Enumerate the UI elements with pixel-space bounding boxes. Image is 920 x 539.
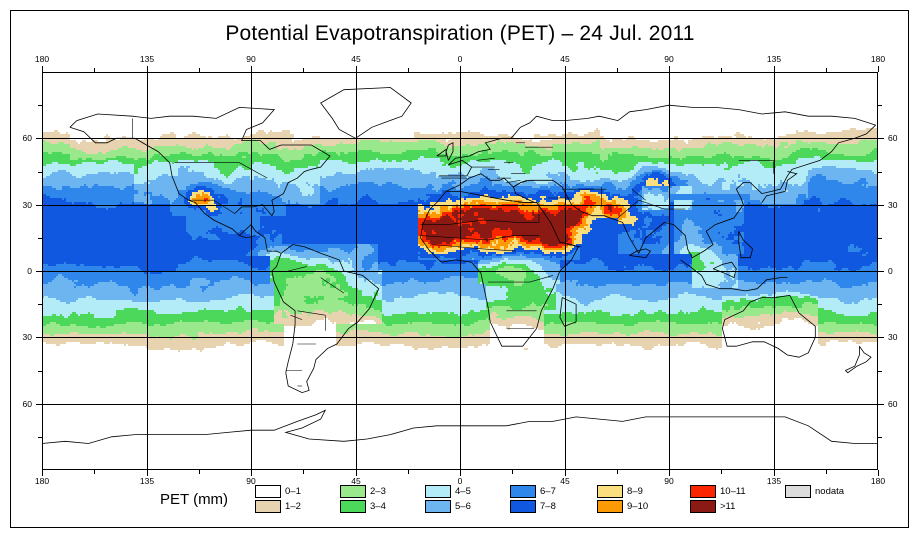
gridline-latitude — [42, 271, 878, 272]
legend-label: 0–1 — [285, 486, 301, 497]
axis-tick-minor-longitude — [826, 470, 827, 474]
axis-tick-minor-longitude — [617, 470, 618, 474]
legend-item: 2–3 — [340, 484, 386, 499]
legend-swatch — [785, 485, 811, 498]
axis-label-latitude: 60 — [10, 399, 32, 409]
axis-label-latitude: 0 — [10, 266, 32, 276]
axis-tick-minor-latitude — [878, 304, 882, 305]
axis-tick-minor-longitude — [199, 470, 200, 474]
gridline-latitude — [42, 205, 878, 206]
legend-swatch — [340, 500, 366, 513]
axis-tick-minor-latitude — [38, 105, 42, 106]
axis-label-longitude: 90 — [654, 476, 684, 486]
axis-tick-latitude — [878, 271, 884, 272]
legend-item: 7–8 — [510, 499, 556, 514]
axis-tick-longitude — [356, 66, 357, 72]
axis-tick-latitude — [36, 138, 42, 139]
axis-tick-minor-latitude — [38, 437, 42, 438]
axis-tick-minor-latitude — [878, 238, 882, 239]
legend-column: 0–11–2 — [255, 484, 301, 514]
axis-tick-longitude — [42, 66, 43, 72]
axis-tick-minor-latitude — [38, 371, 42, 372]
legend-label: nodata — [815, 486, 844, 497]
legend-label: 7–8 — [540, 501, 556, 512]
axis-label-longitude: 90 — [236, 54, 266, 64]
legend-item: 6–7 — [510, 484, 556, 499]
legend-swatch — [690, 485, 716, 498]
legend-item: 5–6 — [425, 499, 471, 514]
map-plot-area — [42, 72, 878, 470]
legend-column: 4–55–6 — [425, 484, 471, 514]
axis-tick-minor-longitude — [303, 68, 304, 72]
gridline-latitude — [42, 404, 878, 405]
axis-tick-minor-latitude — [38, 238, 42, 239]
legend-swatch — [255, 500, 281, 513]
legend-item: 9–10 — [597, 499, 648, 514]
axis-tick-minor-latitude — [38, 304, 42, 305]
legend-label: 9–10 — [627, 501, 648, 512]
gridline-latitude — [42, 138, 878, 139]
legend-title: PET (mm) — [160, 491, 228, 508]
legend-label: >11 — [720, 501, 735, 512]
legend-swatch — [340, 485, 366, 498]
axis-label-longitude: 180 — [863, 54, 893, 64]
legend-swatch — [510, 485, 536, 498]
axis-tick-minor-latitude — [38, 172, 42, 173]
axis-label-longitude: 180 — [27, 476, 57, 486]
axis-label-longitude: 135 — [759, 54, 789, 64]
legend-item: 10–11 — [690, 484, 746, 499]
axis-tick-latitude — [878, 138, 884, 139]
axis-tick-minor-longitude — [408, 68, 409, 72]
legend-item: 3–4 — [340, 499, 386, 514]
axis-label-longitude: 135 — [132, 54, 162, 64]
axis-label-longitude: 0 — [445, 54, 475, 64]
axis-label-latitude: 60 — [888, 133, 897, 143]
legend-label: 5–6 — [455, 501, 471, 512]
axis-label-latitude: 30 — [10, 332, 32, 342]
legend-column: 6–77–8 — [510, 484, 556, 514]
legend-label: 1–2 — [285, 501, 301, 512]
axis-tick-latitude — [36, 271, 42, 272]
axis-tick-latitude — [36, 205, 42, 206]
pet-map-figure: Potential Evapotranspiration (PET) – 24 … — [0, 0, 920, 539]
axis-label-latitude: 60 — [10, 133, 32, 143]
legend-label: 4–5 — [455, 486, 471, 497]
axis-tick-minor-longitude — [721, 470, 722, 474]
axis-tick-longitude — [460, 66, 461, 72]
axis-tick-minor-latitude — [878, 172, 882, 173]
axis-tick-minor-longitude — [94, 470, 95, 474]
legend-column: 10–11>11 — [690, 484, 746, 514]
legend-item: nodata — [785, 484, 844, 499]
axis-tick-minor-latitude — [878, 105, 882, 106]
page-title: Potential Evapotranspiration (PET) – 24 … — [0, 22, 920, 46]
axis-tick-minor-longitude — [512, 470, 513, 474]
legend-swatch — [425, 485, 451, 498]
axis-tick-minor-longitude — [721, 68, 722, 72]
legend-column: 2–33–4 — [340, 484, 386, 514]
axis-tick-minor-longitude — [199, 68, 200, 72]
legend-item: 4–5 — [425, 484, 471, 499]
axis-label-latitude: 30 — [10, 200, 32, 210]
legend-label: 8–9 — [627, 486, 643, 497]
axis-tick-minor-longitude — [617, 68, 618, 72]
axis-label-longitude: 135 — [132, 476, 162, 486]
legend-swatch — [255, 485, 281, 498]
axis-tick-latitude — [36, 337, 42, 338]
legend-swatch — [510, 500, 536, 513]
axis-label-longitude: 180 — [863, 476, 893, 486]
axis-label-latitude: 30 — [888, 200, 897, 210]
axis-tick-longitude — [565, 66, 566, 72]
legend-item: 1–2 — [255, 499, 301, 514]
axis-tick-minor-longitude — [826, 68, 827, 72]
axis-tick-latitude — [878, 337, 884, 338]
legend-column: 8–99–10 — [597, 484, 648, 514]
axis-tick-longitude — [774, 66, 775, 72]
legend-item: >11 — [690, 499, 746, 514]
legend-label: 2–3 — [370, 486, 386, 497]
axis-label-latitude: 30 — [888, 332, 897, 342]
axis-label-longitude: 45 — [341, 54, 371, 64]
axis-label-latitude: 60 — [888, 399, 897, 409]
axis-tick-longitude — [251, 66, 252, 72]
axis-tick-minor-longitude — [94, 68, 95, 72]
axis-tick-longitude — [147, 66, 148, 72]
axis-label-longitude: 90 — [654, 54, 684, 64]
axis-tick-latitude — [878, 404, 884, 405]
legend-swatch — [597, 485, 623, 498]
axis-tick-longitude — [669, 66, 670, 72]
axis-label-longitude: 45 — [550, 54, 580, 64]
legend-swatch — [425, 500, 451, 513]
legend-column: nodata — [785, 484, 844, 499]
axis-tick-minor-longitude — [303, 470, 304, 474]
legend-label: 6–7 — [540, 486, 556, 497]
legend-item: 8–9 — [597, 484, 648, 499]
axis-tick-minor-longitude — [408, 470, 409, 474]
legend-label: 10–11 — [720, 486, 746, 497]
axis-tick-minor-latitude — [878, 371, 882, 372]
legend-label: 3–4 — [370, 501, 386, 512]
axis-label-longitude: 180 — [27, 54, 57, 64]
axis-tick-longitude — [878, 66, 879, 72]
gridline-latitude — [42, 337, 878, 338]
axis-tick-latitude — [36, 404, 42, 405]
axis-tick-latitude — [878, 205, 884, 206]
axis-label-latitude: 0 — [888, 266, 893, 276]
legend-swatch — [690, 500, 716, 513]
axis-tick-minor-latitude — [878, 437, 882, 438]
axis-tick-minor-longitude — [512, 68, 513, 72]
legend-item: 0–1 — [255, 484, 301, 499]
legend-swatch — [597, 500, 623, 513]
